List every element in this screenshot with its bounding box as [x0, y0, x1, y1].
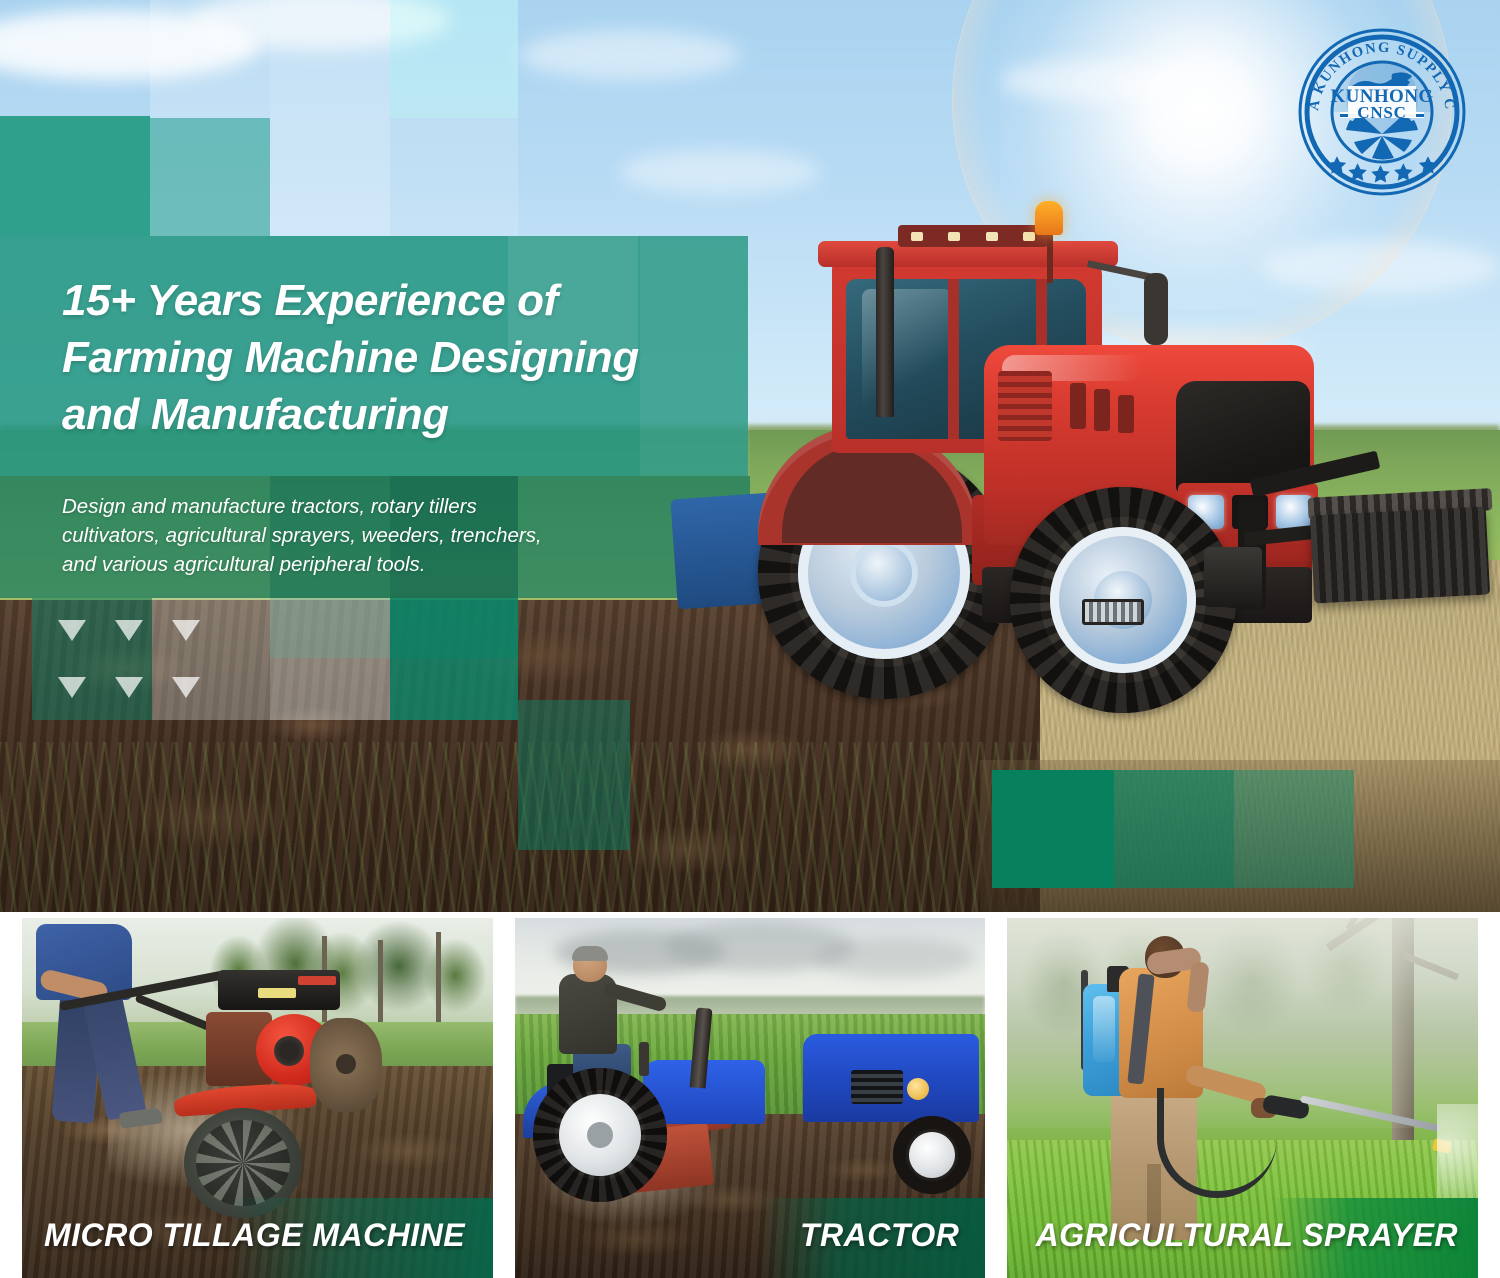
product-card-row: MICRO TILLAGE MACHINE [0, 918, 1500, 1278]
headline-line-3: and Manufacturing [62, 386, 762, 443]
card2-driver-hair [572, 946, 608, 961]
promo-banner: 15+ Years Experience of Farming Machine … [0, 0, 1500, 1278]
subtitle-line-2: cultivators, agricultural sprayers, weed… [62, 521, 662, 550]
globe-seal-icon: KUNHONG CNSC CHINA KUNHONG SUPPLY CHAIN [1296, 26, 1468, 198]
mosaic-square [270, 598, 390, 720]
tractor-rear-hub [850, 539, 918, 607]
hero-section: 15+ Years Experience of Farming Machine … [0, 0, 1500, 912]
mosaic-square [1114, 770, 1234, 888]
work-light-icon [986, 232, 998, 241]
tractor-headlight [1276, 495, 1312, 529]
tractor-hood-slot [1094, 389, 1110, 431]
card3-caption: AGRICULTURAL SPRAYER [1007, 1198, 1478, 1278]
card1-caption: MICRO TILLAGE MACHINE [22, 1198, 493, 1278]
triangle-down-icon [115, 677, 143, 698]
hero-subtitle: Design and manufacture tractors, rotary … [62, 492, 662, 579]
card1-tree-trunk [436, 932, 441, 1036]
mosaic-square-solid [0, 116, 150, 236]
card2-front-rim [909, 1132, 955, 1178]
triangle-down-icon [172, 620, 200, 641]
product-card-agricultural-sprayer[interactable]: AGRICULTURAL SPRAYER [1007, 918, 1478, 1278]
tractor-front-roller [1310, 506, 1490, 603]
mosaic-square [150, 0, 270, 118]
tractor-cab-post [948, 279, 959, 439]
subtitle-line-1: Design and manufacture tractors, rotary … [62, 492, 662, 521]
page-title: 15+ Years Experience of Farming Machine … [62, 272, 762, 444]
cloud-shape [520, 30, 740, 80]
mosaic-square [390, 118, 518, 236]
work-light-icon [911, 232, 923, 241]
card2-rear-rim [559, 1094, 641, 1176]
tractor-side-vent [998, 371, 1052, 441]
headline-line-1: 15+ Years Experience of [62, 272, 762, 329]
tractor-exhaust-pipe [876, 247, 894, 417]
card1-tiller-disc [310, 1018, 382, 1112]
cloud-shape [620, 150, 820, 194]
tractor-light-bar [898, 225, 1048, 247]
card2-cloud [815, 938, 975, 978]
mosaic-square [518, 700, 630, 850]
card1-engine-label [258, 988, 296, 998]
mosaic-square [390, 0, 518, 118]
product-card-micro-tillage-machine[interactable]: MICRO TILLAGE MACHINE [22, 918, 493, 1278]
card1-engine-stripe [298, 976, 336, 985]
triangle-decoration-grid [58, 620, 222, 727]
mosaic-square [150, 118, 270, 236]
mosaic-square [390, 598, 518, 720]
triangle-down-icon [58, 620, 86, 641]
triangle-down-icon [58, 677, 86, 698]
mosaic-square [1234, 770, 1354, 888]
tractor-side-mirror [1144, 273, 1168, 345]
card2-tractor-lamp [907, 1078, 929, 1100]
work-light-icon [948, 232, 960, 241]
tractor-beacon-light [1035, 201, 1063, 235]
triangle-down-icon [115, 620, 143, 641]
card2-caption: TRACTOR [515, 1198, 986, 1278]
card2-tractor-grille [851, 1070, 903, 1104]
subtitle-line-3: and various agricultural peripheral tool… [62, 550, 662, 579]
mosaic-square-solid [992, 770, 1114, 888]
tractor-step [1082, 599, 1144, 625]
product-card-tractor[interactable]: TRACTOR [515, 918, 986, 1278]
company-logo[interactable]: KUNHONG CNSC CHINA KUNHONG SUPPLY CHAIN [1296, 26, 1468, 198]
hero-tractor-illustration [752, 195, 1472, 715]
triangle-down-icon [172, 677, 200, 698]
mosaic-square [270, 0, 390, 236]
work-light-icon [1023, 232, 1035, 241]
tractor-hood-slot [1118, 395, 1134, 433]
svg-text:CNSC: CNSC [1357, 103, 1407, 122]
card2-exhaust-stack [639, 1042, 649, 1076]
headline-line-2: Farming Machine Designing [62, 329, 762, 386]
tractor-hydraulic-block [1204, 547, 1262, 607]
tractor-hood-slot [1070, 383, 1086, 429]
